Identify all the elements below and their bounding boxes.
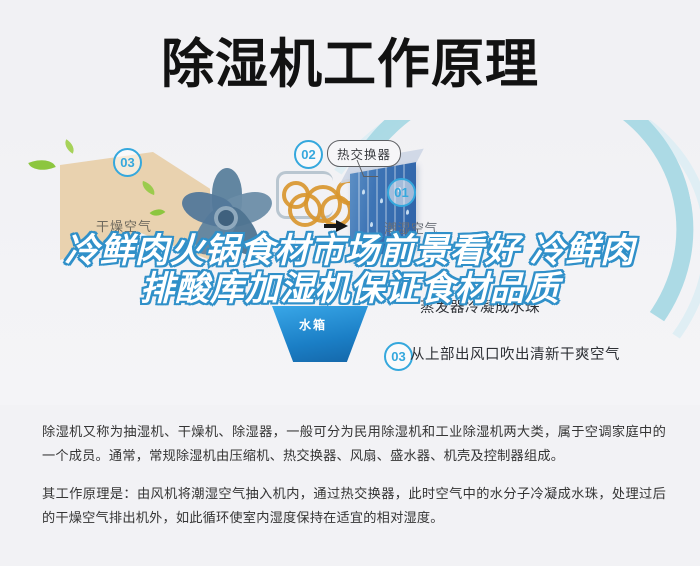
water-tank-label: 水箱 <box>299 316 327 333</box>
dehumidifier-diagram: 干燥空气 <box>0 120 700 405</box>
evaporator-condense-label: 蒸发器冷凝成水珠 <box>420 296 540 317</box>
step-badge-03-left: 03 <box>113 148 142 177</box>
article-body: 除湿机又称为抽湿机、干燥机、除湿器，一般可分为民用除湿机和工业除湿机两大类，属于… <box>0 405 700 566</box>
title-band: 除湿机工作原理 <box>0 0 700 126</box>
body-paragraph-2: 其工作原理是：由风机将潮湿空气抽入机内，通过热交换器，此时空气中的水分子冷凝成水… <box>42 482 666 530</box>
heat-exchanger-icon <box>350 162 416 260</box>
humid-air-label: 潮湿空气 <box>384 218 438 237</box>
page-title: 除湿机工作原理 <box>0 34 700 96</box>
top-outlet-label: 从上部出风口吹出清新干爽空气 <box>410 343 620 364</box>
body-paragraph-1: 除湿机又称为抽湿机、干燥机、除湿器，一般可分为民用除湿机和工业除湿机两大类，属于… <box>42 420 666 468</box>
leaf-icon <box>28 154 55 176</box>
step-badge-01: 01 <box>387 178 416 207</box>
step-badge-03-right: 03 <box>384 342 413 371</box>
leaf-icon <box>62 139 78 154</box>
airflow-arrow-head-icon <box>336 220 348 232</box>
fan-hub-icon <box>214 206 238 230</box>
step-badge-02: 02 <box>294 140 323 169</box>
page-root: 除湿机工作原理 干燥空气 <box>0 0 700 566</box>
dry-air-label: 干燥空气 <box>96 216 152 235</box>
fan-icon <box>170 162 278 262</box>
